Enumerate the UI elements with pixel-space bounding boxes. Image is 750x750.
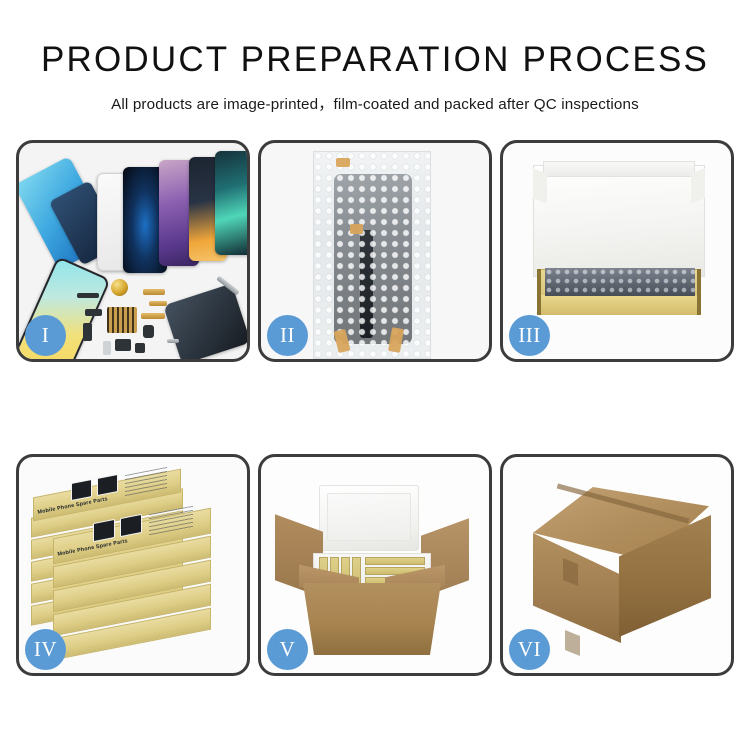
chip-array-part bbox=[107, 307, 137, 333]
step-badge-6: VI bbox=[509, 629, 550, 670]
part-screw-set bbox=[167, 339, 179, 343]
gold-coil-part bbox=[111, 279, 128, 296]
white-box-lid bbox=[533, 165, 705, 277]
part-sim-tray bbox=[135, 343, 145, 353]
white-lid-top-fold bbox=[543, 161, 695, 177]
part-speaker-module bbox=[115, 339, 131, 351]
white-lid-flap-left bbox=[533, 168, 547, 204]
part-connector-1 bbox=[77, 293, 99, 298]
bubble-wrapped-contents bbox=[545, 268, 695, 296]
yellow-box-front-face bbox=[537, 295, 701, 315]
process-steps-grid: I II bbox=[16, 140, 734, 676]
part-camera-module bbox=[143, 325, 154, 338]
phone-back-housing bbox=[163, 283, 247, 359]
shipping-carton-tab-lower bbox=[565, 630, 580, 656]
yellow-box-edge-right bbox=[697, 269, 701, 315]
part-flex-ribbon-1 bbox=[143, 289, 165, 295]
page-title: PRODUCT PREPARATION PROCESS bbox=[0, 42, 750, 79]
part-battery-connector bbox=[103, 341, 111, 355]
step-badge-5: V bbox=[267, 629, 308, 670]
step-panel-5: V bbox=[258, 454, 492, 676]
step-badge-3: III bbox=[509, 315, 550, 356]
part-flex-ribbon-3 bbox=[141, 313, 165, 319]
yellow-box-edge-left bbox=[537, 269, 541, 315]
part-flex-ribbon-2 bbox=[149, 301, 167, 306]
tape-middle bbox=[350, 224, 363, 234]
step-panel-6: VI bbox=[500, 454, 734, 676]
part-bracket-1 bbox=[85, 309, 102, 316]
bubble-wrap-bag bbox=[313, 151, 431, 359]
step-badge-1: I bbox=[25, 315, 66, 356]
step-badge-4: IV bbox=[25, 629, 66, 670]
white-lid-flap-right bbox=[691, 168, 705, 204]
step-panel-4: Mobile Phone Spare Parts Mobile Phone Sp… bbox=[16, 454, 250, 676]
foam-lid-inner bbox=[327, 493, 411, 541]
packed-box-5 bbox=[365, 557, 425, 565]
step-panel-3: III bbox=[500, 140, 734, 362]
step-panel-2: II bbox=[258, 140, 492, 362]
page-subtitle: All products are image-printed，film-coat… bbox=[0, 92, 750, 114]
bubble-texture bbox=[314, 152, 430, 358]
phone-teal bbox=[215, 151, 247, 255]
carton-body bbox=[303, 583, 441, 655]
step-panel-1: I bbox=[16, 140, 250, 362]
part-bracket-2 bbox=[83, 323, 92, 341]
tape-top bbox=[336, 158, 350, 167]
header: PRODUCT PREPARATION PROCESS All products… bbox=[0, 42, 750, 114]
product-preparation-process-page: PRODUCT PREPARATION PROCESS All products… bbox=[0, 0, 750, 750]
step-badge-2: II bbox=[267, 315, 308, 356]
